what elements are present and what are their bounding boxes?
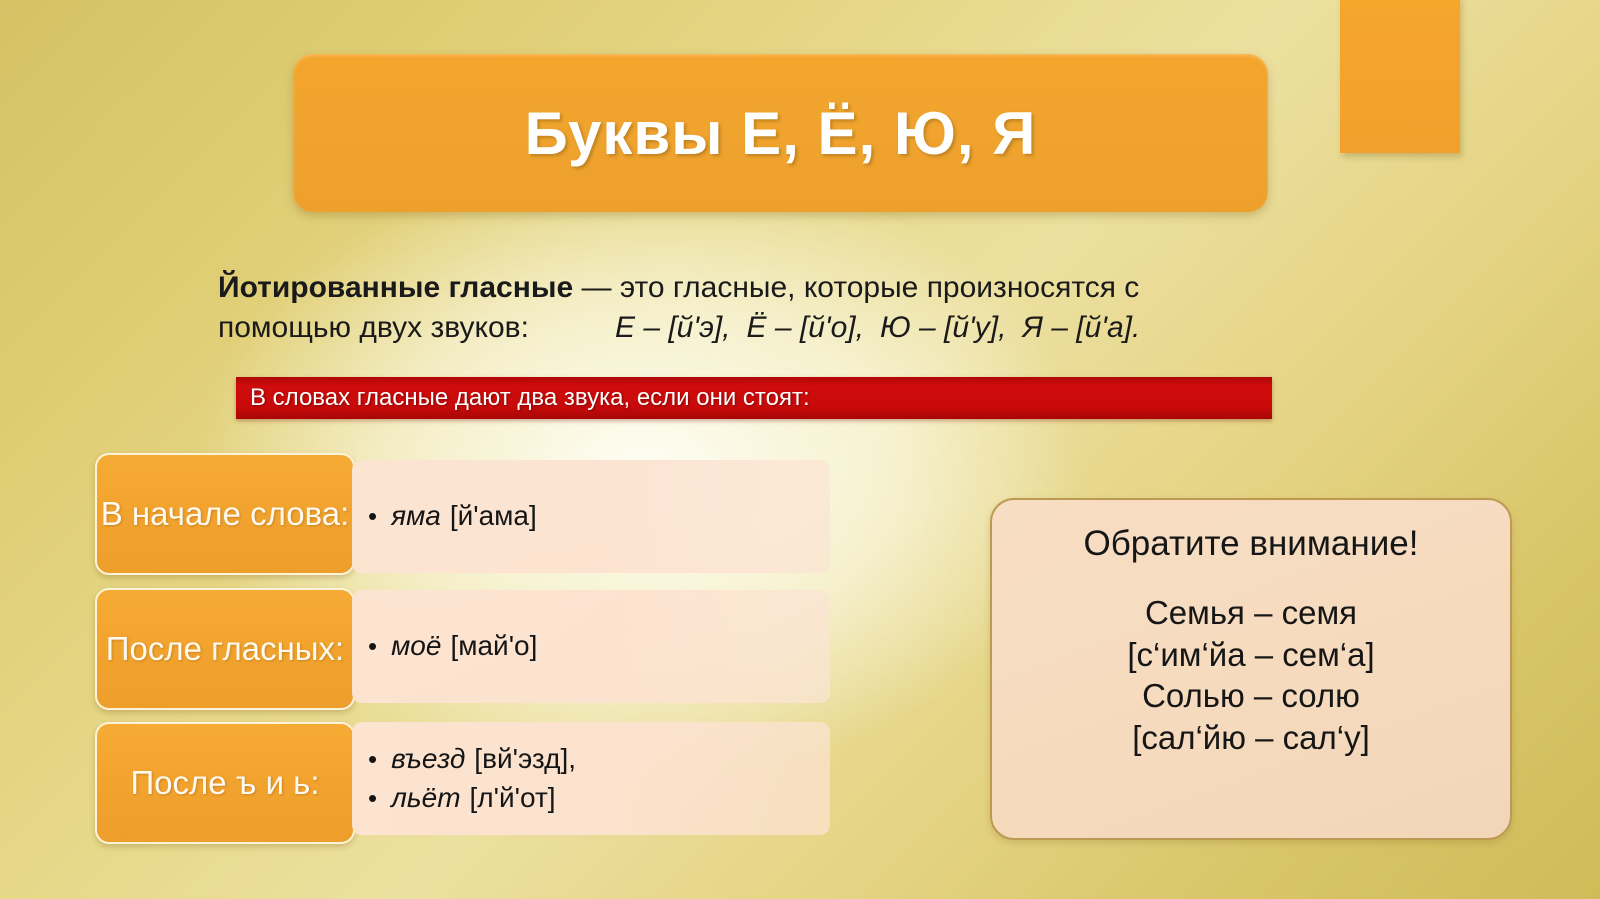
attention-note-line-2: Солью – солю: [1142, 675, 1360, 717]
bullet-dot-icon: •: [368, 633, 377, 659]
definition-example-0: Е – [й'э],: [615, 311, 731, 344]
attention-note-title: Обратите внимание!: [1084, 524, 1419, 564]
definition-body-line2: помощью двух звуков:: [218, 311, 529, 344]
bullet-dot-icon: •: [368, 785, 377, 811]
definition-term: Йотированные гласные: [218, 271, 573, 304]
example-transcription: [вй'эзд],: [474, 740, 576, 779]
attention-note-box: Обратите внимание! Семья – семя [с‘им‘йа…: [990, 498, 1512, 840]
red-banner-text: В словах гласные дают два звука, если он…: [236, 384, 810, 412]
example-panel-2: • въезд [вй'эзд], • льёт [л'й'от]: [352, 722, 830, 835]
list-item: • въезд [вй'эзд],: [368, 740, 830, 779]
definition-example-3: Я – [й'а].: [1022, 311, 1140, 344]
example-transcription: [л'й'от]: [470, 779, 556, 818]
attention-note-line-1: [с‘им‘йа – сем‘а]: [1127, 634, 1374, 676]
definition-example-2: Ю – [й'у],: [880, 311, 1006, 344]
attention-note-line-0: Семья – семя: [1145, 592, 1357, 634]
example-word: моё: [391, 627, 441, 666]
slide-title-box: Буквы Е, Ё, Ю, Я: [293, 54, 1268, 212]
bullet-dot-icon: •: [368, 746, 377, 772]
definition-dash: —: [581, 271, 611, 304]
attention-note-line-3: [сал‘йю – сал‘у]: [1132, 717, 1370, 759]
definition-paragraph: Йотированные гласные — это гласные, кото…: [218, 268, 1328, 348]
bullet-dot-icon: •: [368, 503, 377, 529]
example-transcription: [й'ама]: [450, 497, 537, 536]
list-item: • моё [май'о]: [368, 627, 830, 666]
decorative-orange-bar: [1340, 0, 1460, 153]
definition-body-line1: это гласные, которые произносятся с: [611, 271, 1139, 304]
example-word: льёт: [391, 779, 460, 818]
rule-label-box-1: После гласных:: [95, 588, 355, 710]
example-panel-1: • моё [май'о]: [352, 590, 830, 703]
rule-label-text-2: После ъ и ь:: [130, 765, 319, 802]
list-item: • яма [й'ама]: [368, 497, 830, 536]
page-title: Буквы Е, Ё, Ю, Я: [525, 99, 1037, 168]
example-transcription: [май'о]: [450, 627, 537, 666]
rule-label-text-1: После гласных:: [106, 631, 344, 668]
rule-label-box-2: После ъ и ь:: [95, 722, 355, 844]
rule-label-box-0: В начале слова:: [95, 453, 355, 575]
rule-label-text-0: В начале слова:: [101, 496, 350, 533]
example-word: яма: [391, 497, 441, 536]
example-word: въезд: [391, 740, 465, 779]
red-banner: В словах гласные дают два звука, если он…: [236, 377, 1272, 419]
example-panel-0: • яма [й'ама]: [352, 460, 830, 573]
definition-example-1: Ё – [й'о],: [747, 311, 864, 344]
list-item: • льёт [л'й'от]: [368, 779, 830, 818]
